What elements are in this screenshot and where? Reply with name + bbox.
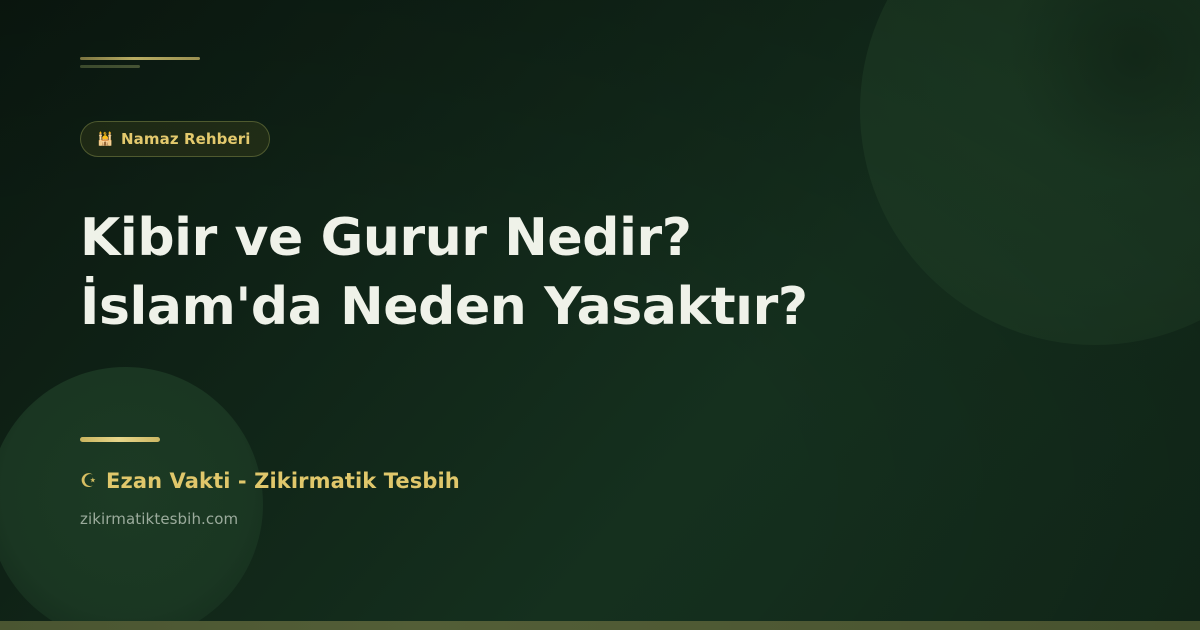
- category-badge[interactable]: 🕌 Namaz Rehberi: [80, 121, 270, 157]
- page-title: Kibir ve Gurur Nedir? İslam'da Neden Yas…: [80, 204, 1090, 342]
- bottom-accent-bar: [0, 621, 1200, 630]
- top-rule-primary: [80, 57, 200, 60]
- top-rule-secondary: [80, 65, 140, 68]
- page-title-line-1: Kibir ve Gurur Nedir?: [80, 204, 1090, 273]
- gold-divider: [80, 437, 160, 442]
- site-url[interactable]: zikirmatiktesbih.com: [80, 510, 238, 528]
- top-decorative-rules: [80, 57, 200, 68]
- brand-row[interactable]: ☪ Ezan Vakti - Zikirmatik Tesbih: [80, 469, 460, 493]
- mosque-icon: 🕌: [97, 132, 112, 147]
- page-title-line-2: İslam'da Neden Yasaktır?: [80, 273, 1090, 342]
- star-and-crescent-icon: ☪: [80, 472, 97, 491]
- share-card: 🕌 Namaz Rehberi Kibir ve Gurur Nedir? İs…: [0, 0, 1200, 630]
- category-badge-label: Namaz Rehberi: [121, 130, 251, 148]
- brand-name: Ezan Vakti - Zikirmatik Tesbih: [106, 469, 460, 493]
